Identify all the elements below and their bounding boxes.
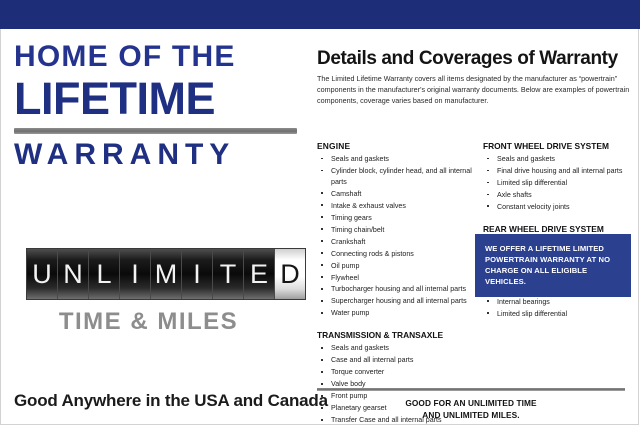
odometer-tile-letter: U bbox=[32, 261, 52, 288]
coverage-list-item: Seals and gaskets bbox=[317, 343, 481, 354]
odometer-graphic: UNLIMITED TIME & MILES bbox=[26, 248, 306, 336]
coverage-list-item: Torque converter bbox=[317, 367, 481, 378]
section-heading-rear-wheel-drive: REAR WHEEL DRIVE SYSTEM bbox=[483, 224, 639, 234]
section-spacer bbox=[317, 320, 481, 330]
odometer-tile: U bbox=[27, 249, 58, 299]
odometer-tiles: UNLIMITED bbox=[26, 248, 306, 300]
coverage-list-item: Water pump bbox=[317, 308, 481, 319]
page-title: Details and Coverages of Warranty bbox=[317, 48, 618, 70]
coverage-list-front-wheel-drive: Seals and gasketsFinal drive housing and… bbox=[483, 154, 639, 213]
hero-line-home-of-the: HOME OF THE bbox=[14, 42, 299, 72]
coverage-list-item: Timing chain/belt bbox=[317, 225, 481, 236]
warranty-flyer-page: HOME OF THE LIFETIME WARRANTY UNLIMITED … bbox=[0, 0, 640, 426]
odometer-tile: I bbox=[120, 249, 151, 299]
section-heading-engine: ENGINE bbox=[317, 141, 481, 151]
hero-line-lifetime: LIFETIME bbox=[14, 76, 299, 121]
coverage-list-item: Supercharger housing and all internal pa… bbox=[317, 296, 481, 307]
odometer-tile: E bbox=[244, 249, 275, 299]
coverage-list-item: Timing gears bbox=[317, 213, 481, 224]
coverage-list-item: Limited slip differential bbox=[483, 309, 639, 320]
coverage-list-item: Flywheel bbox=[317, 273, 481, 284]
footer-divider-bar bbox=[317, 388, 625, 391]
odometer-tile: M bbox=[151, 249, 182, 299]
section-engine: ENGINE Seals and gasketsCylinder block, … bbox=[317, 141, 481, 319]
odometer-subtitle: TIME & MILES bbox=[26, 308, 271, 336]
coverage-list-item: Internal bearings bbox=[483, 297, 639, 308]
odometer-tile-letter: I bbox=[131, 261, 139, 288]
odometer-tile-letter: L bbox=[96, 261, 111, 288]
left-brand-panel: HOME OF THE LIFETIME WARRANTY UNLIMITED … bbox=[0, 29, 308, 426]
intro-paragraph: The Limited Lifetime Warranty covers all… bbox=[317, 73, 633, 106]
section-front-wheel-drive: FRONT WHEEL DRIVE SYSTEM Seals and gaske… bbox=[483, 141, 639, 213]
odometer-tile-letter: N bbox=[63, 261, 83, 288]
hero-divider-bar bbox=[14, 128, 297, 134]
odometer-tile-letter: M bbox=[155, 261, 178, 288]
section-spacer bbox=[483, 214, 639, 224]
coverage-list-item: Camshaft bbox=[317, 189, 481, 200]
odometer-tile-letter: E bbox=[250, 261, 268, 288]
odometer-tile-letter: I bbox=[193, 261, 201, 288]
odometer-tile-letter: D bbox=[280, 261, 300, 288]
coverage-list-item: Axle shafts bbox=[483, 190, 639, 201]
coverage-list-item: Seals and gaskets bbox=[483, 154, 639, 165]
odometer-tile: D bbox=[275, 249, 305, 299]
coverage-list-item: Intake & exhaust valves bbox=[317, 201, 481, 212]
odometer-tile: T bbox=[213, 249, 244, 299]
section-heading-front-wheel-drive: FRONT WHEEL DRIVE SYSTEM bbox=[483, 141, 639, 151]
coverage-list-item: Connecting rods & pistons bbox=[317, 249, 481, 260]
coverage-column-left: ENGINE Seals and gasketsCylinder block, … bbox=[317, 141, 481, 427]
hero-lockup: HOME OF THE LIFETIME WARRANTY bbox=[14, 42, 299, 170]
coverage-list-item: Seals and gaskets bbox=[317, 154, 481, 165]
odometer-tile: L bbox=[89, 249, 120, 299]
coverage-list-item: Turbocharger housing and all internal pa… bbox=[317, 284, 481, 295]
section-heading-transmission: TRANSMISSION & TRANSAXLE bbox=[317, 330, 481, 340]
coverage-list-item: Crankshaft bbox=[317, 237, 481, 248]
coverage-list-item: Final drive housing and all internal par… bbox=[483, 166, 639, 177]
coverage-list-engine: Seals and gasketsCylinder block, cylinde… bbox=[317, 154, 481, 319]
coverage-list-item: Oil pump bbox=[317, 261, 481, 272]
footer-line-2: AND UNLIMITED MILES. bbox=[317, 409, 625, 421]
top-navy-band bbox=[0, 0, 640, 29]
offer-callout-text: WE OFFER A LIFETIME LIMITED POWERTRAIN W… bbox=[485, 243, 622, 287]
coverage-area-tagline: Good Anywhere in the USA and Canada bbox=[14, 391, 299, 411]
coverage-list-item: Limited slip differential bbox=[483, 178, 639, 189]
hero-line-warranty: WARRANTY bbox=[14, 140, 299, 170]
footer-line-1: GOOD FOR AN UNLIMITED TIME bbox=[317, 397, 625, 409]
odometer-tile: N bbox=[58, 249, 89, 299]
right-details-panel: Details and Coverages of Warranty The Li… bbox=[309, 29, 640, 426]
coverage-list-item: Constant velocity joints bbox=[483, 202, 639, 213]
footer-statement: GOOD FOR AN UNLIMITED TIME AND UNLIMITED… bbox=[317, 397, 625, 422]
coverage-list-item: Case and all internal parts bbox=[317, 355, 481, 366]
odometer-tile-letter: T bbox=[220, 261, 237, 288]
offer-callout-box: WE OFFER A LIFETIME LIMITED POWERTRAIN W… bbox=[475, 234, 631, 297]
coverage-list-item: Cylinder block, cylinder head, and all i… bbox=[317, 166, 481, 188]
odometer-tile: I bbox=[182, 249, 213, 299]
